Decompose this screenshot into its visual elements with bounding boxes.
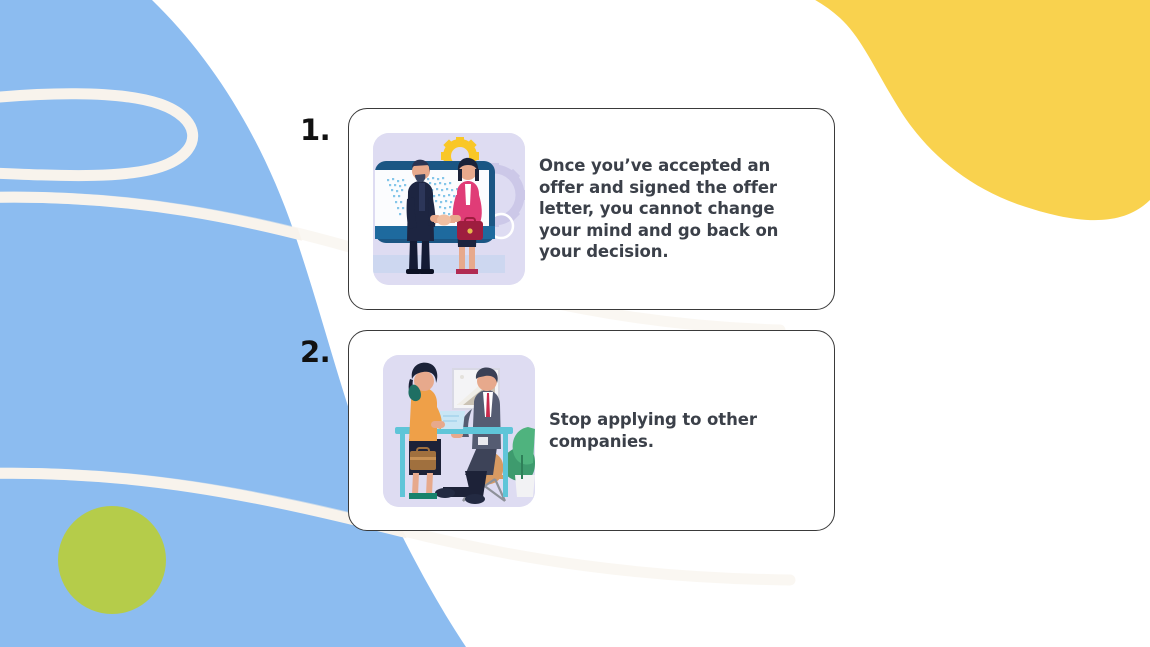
step-text-1: Once you’ve accepted an offer and signed…: [525, 155, 820, 262]
job-interview-illustration: [383, 355, 535, 507]
step-text-2: Stop applying to other companies.: [535, 409, 820, 452]
step-row-1: 1.: [300, 108, 835, 310]
slide-canvas: 1.: [0, 0, 1150, 647]
step-card-1[interactable]: Once you’ve accepted an offer and signed…: [348, 108, 835, 310]
step-number-2: 2.: [300, 330, 348, 367]
step-card-2[interactable]: Stop applying to other companies.: [348, 330, 835, 531]
step-number-1: 1.: [300, 108, 348, 145]
handshake-deal-illustration: [373, 133, 525, 285]
step-row-2: 2.: [300, 330, 835, 531]
